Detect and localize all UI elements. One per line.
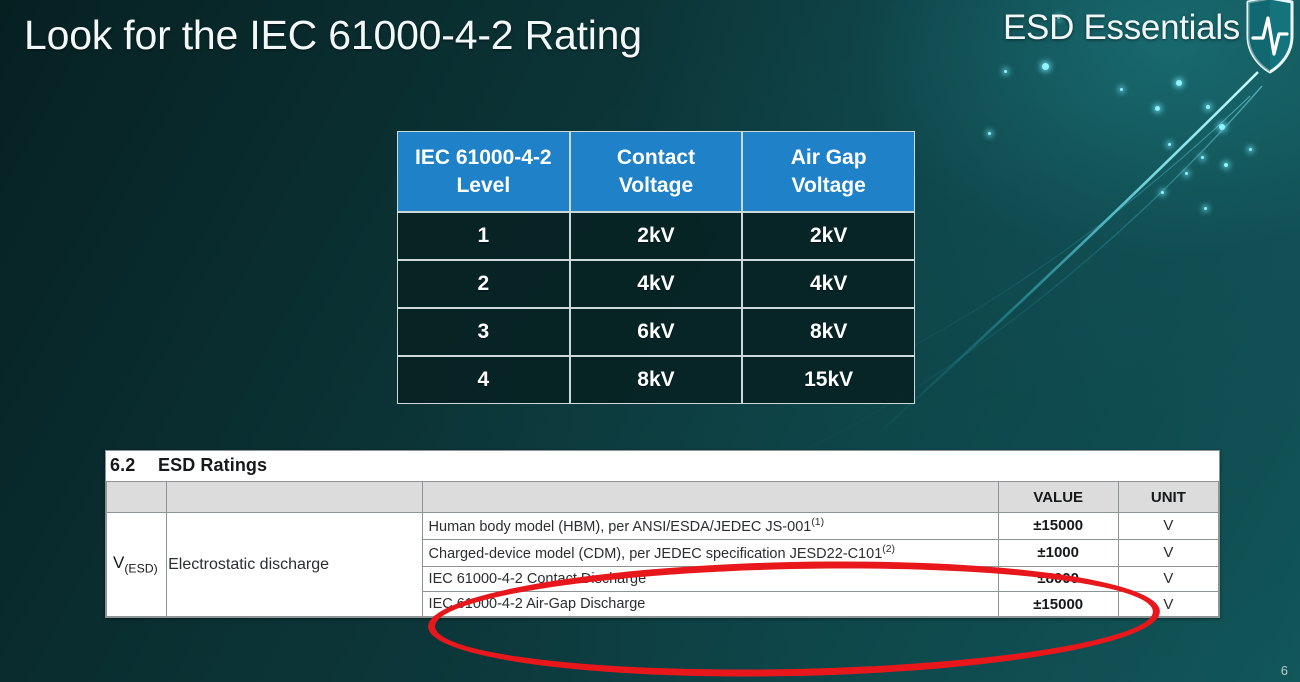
header-blank-symbol	[107, 482, 167, 513]
esd-ratings-table: VALUE UNIT V(ESD) Electrostatic discharg…	[106, 481, 1219, 617]
table-header-row: IEC 61000-4-2 Level Contact Voltage Air …	[397, 131, 915, 212]
header-line: Contact	[617, 146, 695, 169]
cell-airgap: 8kV	[742, 308, 915, 356]
symbol-text: V	[113, 553, 124, 572]
particle-dot	[1176, 80, 1182, 86]
header-line: Level	[456, 174, 510, 197]
cell-level: 3	[397, 308, 570, 356]
datasheet-section-heading: 6.2ESD Ratings	[106, 451, 1219, 481]
description-text: Charged-device model (CDM), per JEDEC sp…	[429, 546, 883, 562]
page-title: Look for the IEC 61000-4-2 Rating	[24, 12, 642, 59]
column-header-air-gap-voltage: Air Gap Voltage	[742, 131, 915, 212]
shield-pulse-icon	[1242, 0, 1298, 76]
cell-unit: V	[1118, 513, 1218, 540]
cell-contact: 8kV	[570, 356, 743, 404]
description-text: Human body model (HBM), per ANSI/ESDA/JE…	[429, 519, 812, 535]
header-line: Voltage	[619, 174, 693, 197]
particle-dot	[988, 132, 991, 135]
particle-dot	[1042, 63, 1049, 70]
column-header-contact-voltage: Contact Voltage	[570, 131, 743, 212]
table-row: V(ESD) Electrostatic discharge Human bod…	[107, 513, 1219, 540]
particle-dot	[1120, 88, 1123, 91]
column-header-unit: UNIT	[1118, 482, 1218, 513]
footnote-marker: (1)	[811, 517, 824, 528]
header-blank-parameter	[167, 482, 422, 513]
cell-description: Charged-device model (CDM), per JEDEC sp…	[422, 539, 998, 566]
table-row: 3 6kV 8kV	[397, 308, 915, 356]
particle-dot	[1004, 70, 1007, 73]
cell-value: ±15000	[998, 513, 1118, 540]
particle-dot	[1201, 156, 1204, 159]
page-number: 6	[1281, 663, 1288, 678]
cell-parameter: Electrostatic discharge	[167, 513, 422, 617]
brand-label: ESD Essentials	[1003, 8, 1240, 48]
cell-value: ±8000	[998, 566, 1118, 591]
particle-dot	[1249, 148, 1252, 151]
particle-dot	[1219, 124, 1225, 130]
cell-contact: 2kV	[570, 212, 743, 260]
cell-airgap: 2kV	[742, 212, 915, 260]
particle-dot	[1206, 105, 1210, 109]
cell-unit: V	[1118, 566, 1218, 591]
iec-level-table: IEC 61000-4-2 Level Contact Voltage Air …	[397, 131, 915, 404]
column-header-value: VALUE	[998, 482, 1118, 513]
particle-dot	[1161, 191, 1164, 194]
cell-description: Human body model (HBM), per ANSI/ESDA/JE…	[422, 513, 998, 540]
cell-contact: 6kV	[570, 308, 743, 356]
slide-canvas: Look for the IEC 61000-4-2 Rating ESD Es…	[0, 0, 1300, 682]
footnote-marker: (2)	[882, 544, 895, 555]
cell-value: ±15000	[998, 592, 1118, 617]
cell-airgap: 4kV	[742, 260, 915, 308]
cell-level: 2	[397, 260, 570, 308]
header-line: IEC 61000-4-2	[415, 146, 552, 169]
cell-description: IEC 61000-4-2 Contact Discharge	[422, 566, 998, 591]
cell-level: 1	[397, 212, 570, 260]
header-line: Air Gap	[791, 146, 867, 169]
particle-dot	[1185, 172, 1188, 175]
cell-level: 4	[397, 356, 570, 404]
particle-dot	[1204, 207, 1207, 210]
cell-contact: 4kV	[570, 260, 743, 308]
particle-dot	[1155, 106, 1160, 111]
table-row: 2 4kV 4kV	[397, 260, 915, 308]
section-number: 6.2	[110, 455, 158, 476]
datasheet-excerpt: 6.2ESD Ratings VALUE UNIT V(ESD) Electro…	[105, 450, 1220, 618]
cell-symbol-vesd: V(ESD)	[107, 513, 167, 617]
cell-value: ±1000	[998, 539, 1118, 566]
cell-unit: V	[1118, 539, 1218, 566]
datasheet-header-row: VALUE UNIT	[107, 482, 1219, 513]
particle-dot	[1168, 143, 1171, 146]
table-row: 4 8kV 15kV	[397, 356, 915, 404]
section-title: ESD Ratings	[158, 455, 267, 475]
table-row: 1 2kV 2kV	[397, 212, 915, 260]
header-line: Voltage	[792, 174, 866, 197]
cell-description: IEC 61000-4-2 Air-Gap Discharge	[422, 592, 998, 617]
header-blank-description	[422, 482, 998, 513]
cell-unit: V	[1118, 592, 1218, 617]
particle-dot	[1224, 163, 1228, 167]
column-header-level: IEC 61000-4-2 Level	[397, 131, 570, 212]
symbol-subscript: (ESD)	[124, 562, 157, 576]
cell-airgap: 15kV	[742, 356, 915, 404]
